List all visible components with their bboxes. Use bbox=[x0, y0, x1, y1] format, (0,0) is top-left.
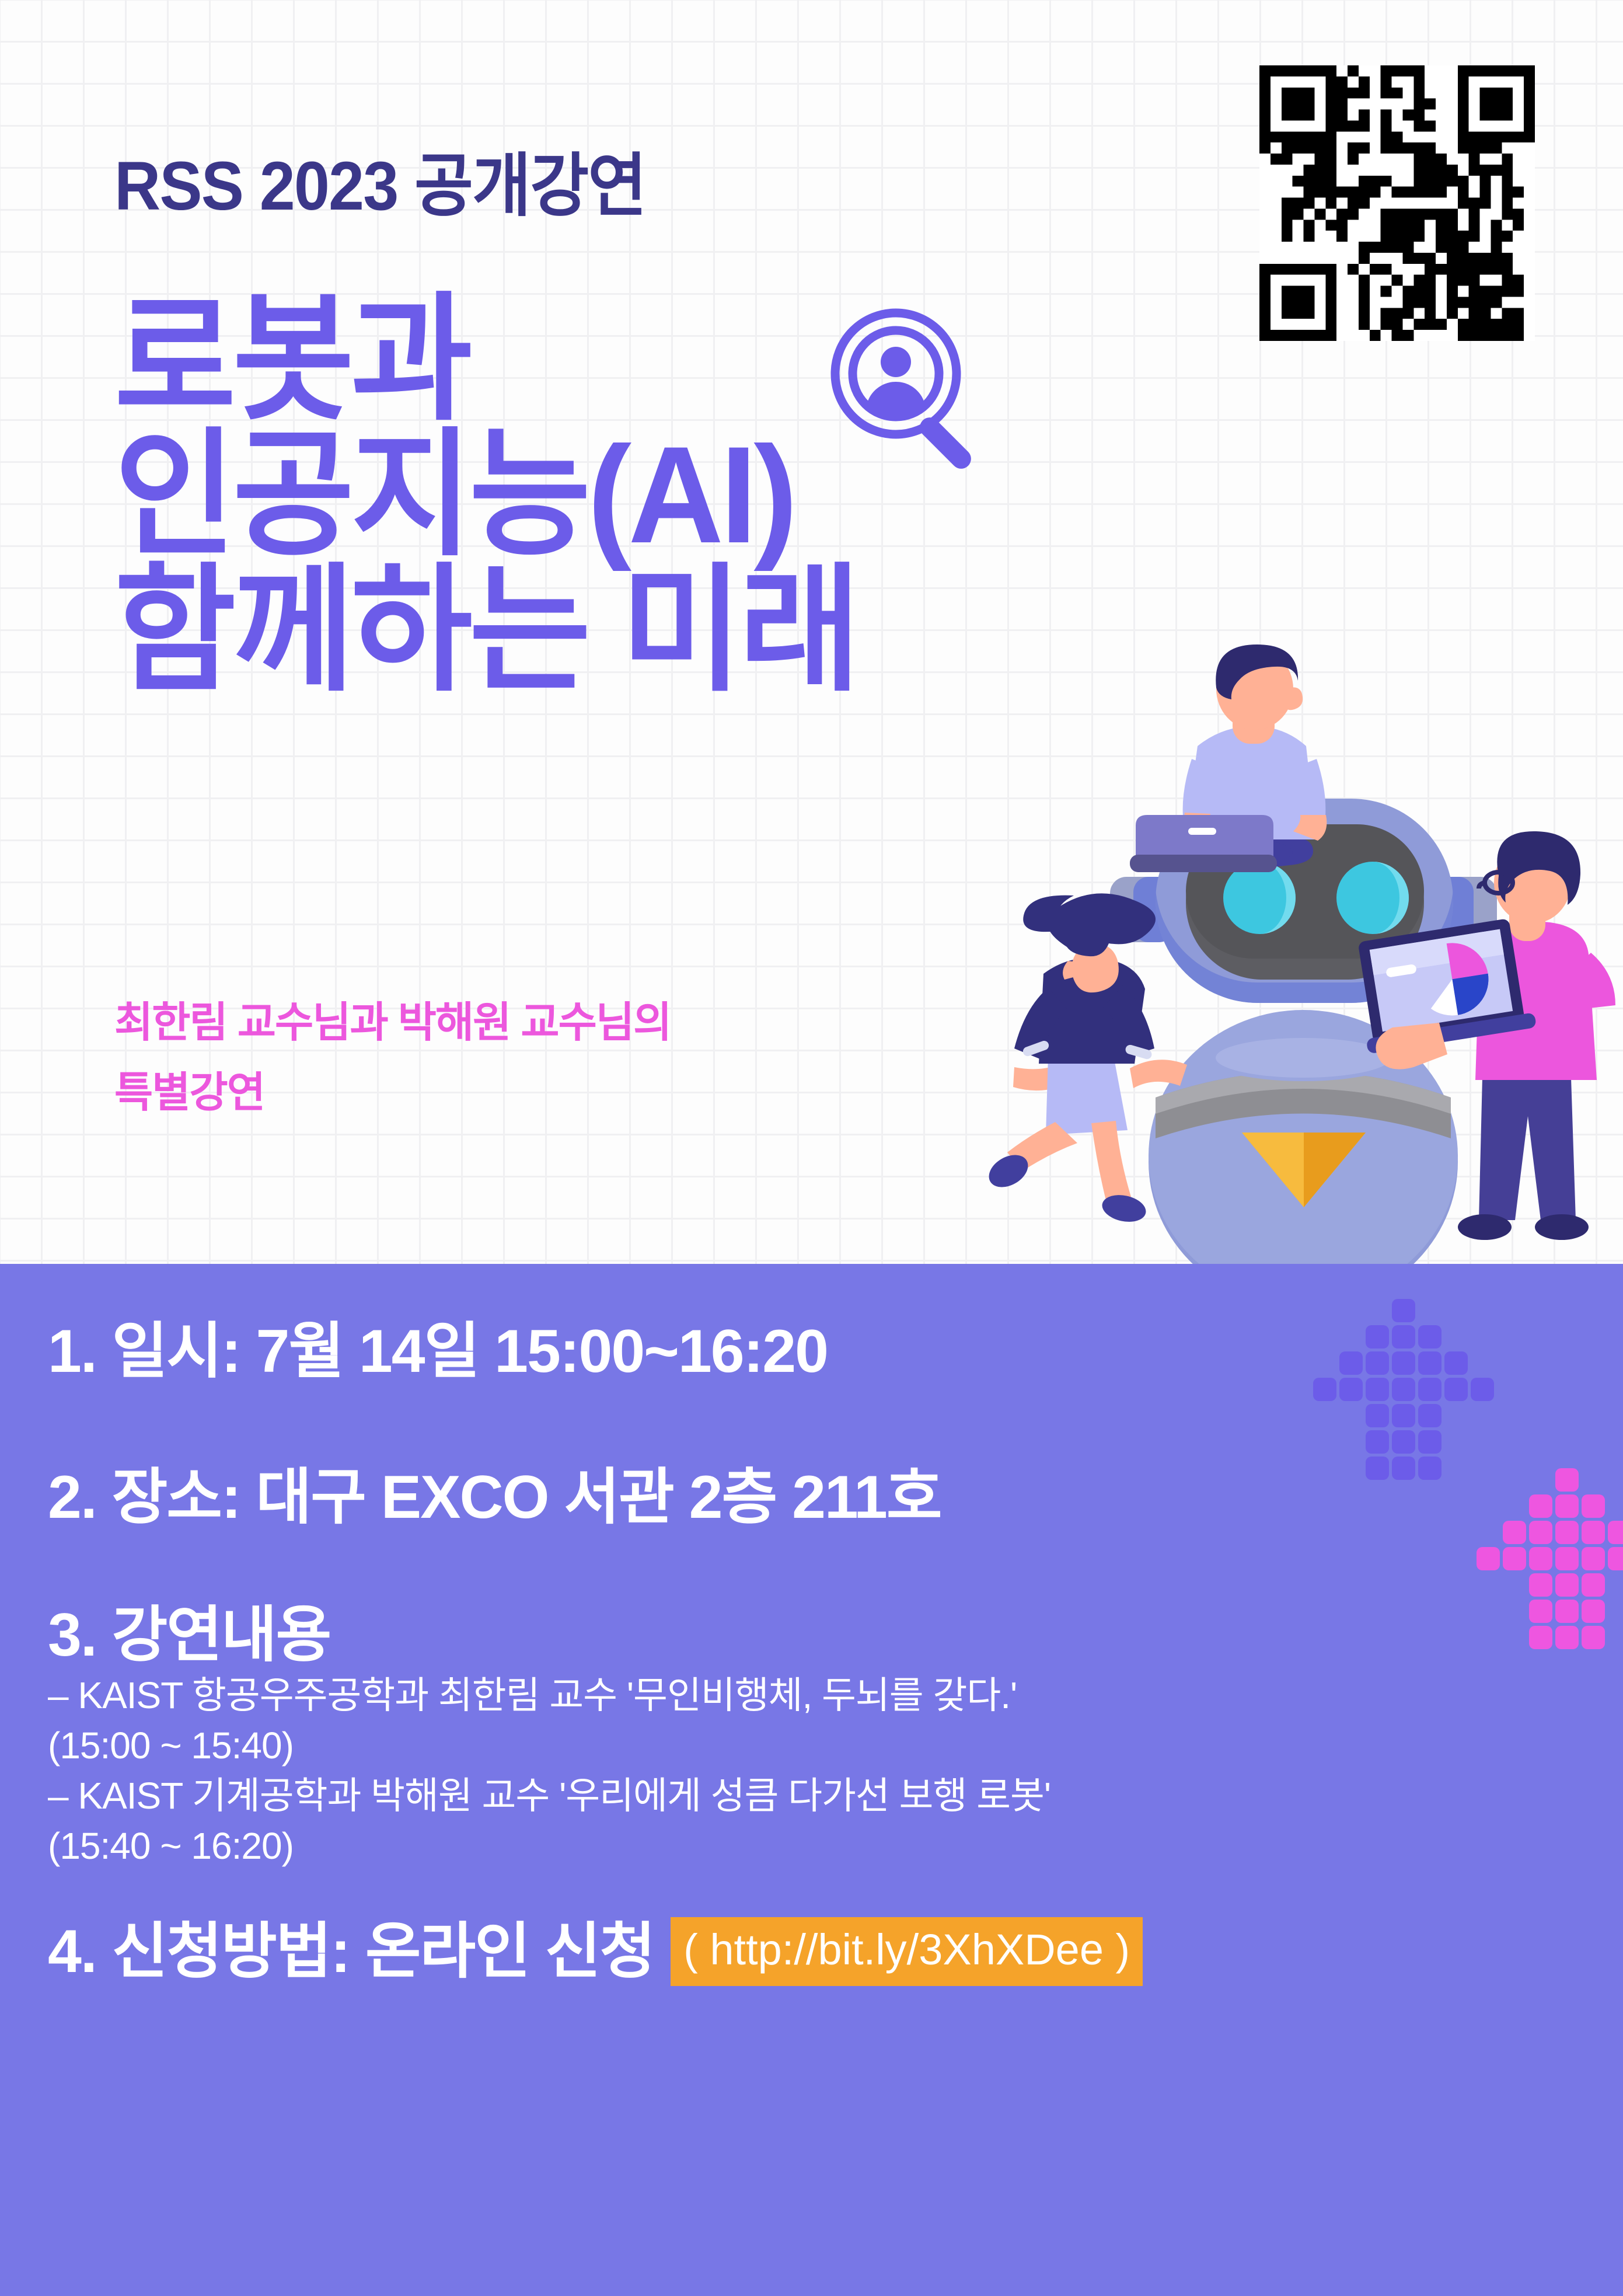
talk-2-time: (15:40 ~ 16:20) bbox=[48, 1821, 1577, 1871]
poster-root: RSS 2023 공개강연 로봇과 인공지능(AI) 함께하는 미래 최한림 교… bbox=[0, 0, 1623, 2296]
qr-code-icon bbox=[1259, 65, 1535, 341]
user-search-icon-svg bbox=[821, 304, 996, 479]
user-search-icon bbox=[821, 304, 996, 479]
robot-illustration bbox=[980, 619, 1623, 1267]
title-line-1: 로봇과 bbox=[114, 292, 857, 427]
subtitle-line-1: 최한림 교수님과 박해원 교수님의 bbox=[114, 988, 671, 1058]
poster-kicker: RSS 2023 공개강연 bbox=[114, 130, 645, 229]
poster-subtitle: 최한림 교수님과 박해원 교수님의 특별강연 bbox=[114, 988, 671, 1128]
info-item-apply: 4. 신청방법: 온라인 신청 ( http://bit.ly/3XhXDee … bbox=[48, 1917, 1577, 1987]
info-list: 1. 일시: 7월 14일 15:00~16:20 2. 장소: 대구 EXCO… bbox=[48, 1316, 1577, 1987]
title-line-3: 함께하는 미래 bbox=[114, 563, 857, 698]
info-item-program-heading: 3. 강연내용 bbox=[48, 1600, 1577, 1670]
info-item-venue: 2. 장소: 대구 EXCO 서관 2층 211호 bbox=[48, 1462, 1577, 1532]
talk-1-time: (15:00 ~ 15:40) bbox=[48, 1720, 1577, 1771]
subtitle-line-2: 특별강연 bbox=[114, 1058, 671, 1128]
talk-2-title: – KAIST 기계공학과 박해원 교수 '우리에게 성큼 다가선 보행 로봇' bbox=[48, 1771, 1577, 1821]
info-panel: 1. 일시: 7월 14일 15:00~16:20 2. 장소: 대구 EXCO… bbox=[0, 1264, 1623, 2296]
apply-url-chip[interactable]: ( http://bit.ly/3XhXDee ) bbox=[671, 1917, 1143, 1986]
title-line-2: 인공지능(AI) bbox=[114, 427, 857, 563]
qr-code[interactable] bbox=[1259, 65, 1535, 341]
poster-header-area: RSS 2023 공개강연 로봇과 인공지능(AI) 함께하는 미래 최한림 교… bbox=[0, 0, 1623, 1264]
info-item-datetime: 1. 일시: 7월 14일 15:00~16:20 bbox=[48, 1316, 1577, 1386]
poster-title: 로봇과 인공지능(AI) 함께하는 미래 bbox=[114, 292, 888, 698]
apply-label: 4. 신청방법: 온라인 신청 bbox=[48, 1917, 654, 1987]
robot-illustration-svg bbox=[980, 619, 1623, 1267]
talk-1-title: – KAIST 항공우주공학과 최한림 교수 '무인비행체, 두뇌를 갖다.' bbox=[48, 1670, 1577, 1720]
